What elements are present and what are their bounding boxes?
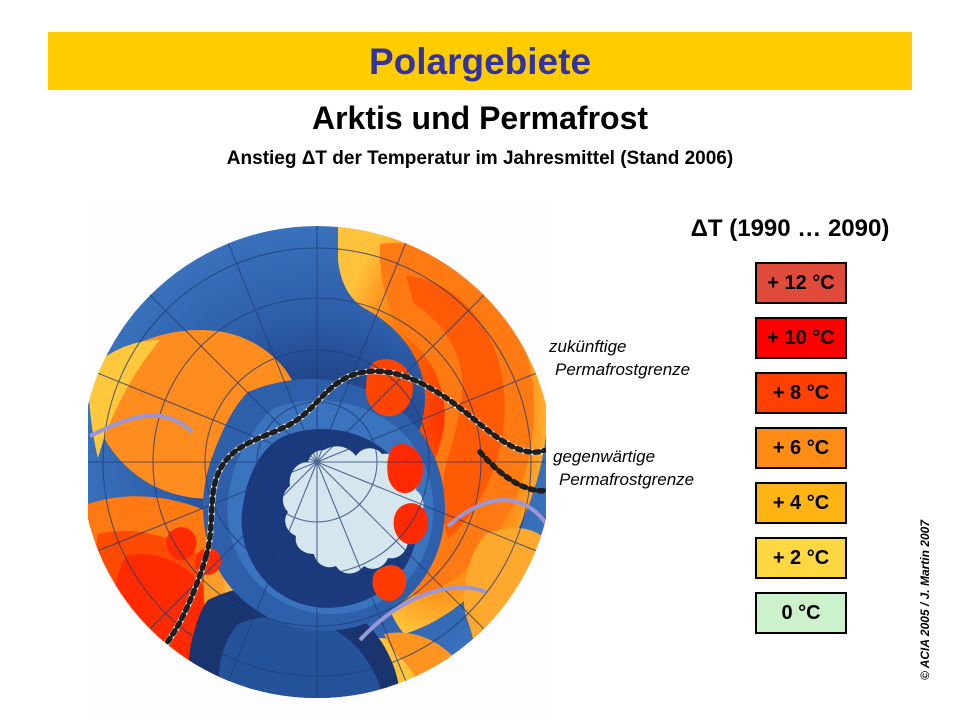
annotation-future-permafrost-limit: zukünftige Permafrostgrenze (549, 336, 690, 382)
legend-swatch-label: 0 °C (781, 602, 820, 625)
legend-swatch-label: + 6 °C (773, 437, 829, 460)
legend-swatch-10: + 10 °C (755, 317, 847, 359)
page-title: Polargebiete (369, 43, 591, 80)
legend-swatch-label: + 4 °C (773, 492, 829, 515)
arctic-permafrost-map (88, 204, 546, 720)
legend-swatch-8: + 8 °C (755, 372, 847, 414)
legend-swatch-4: + 4 °C (755, 482, 847, 524)
temperature-legend: + 12 °C+ 10 °C+ 8 °C+ 6 °C+ 4 °C+ 2 °C0 … (755, 262, 849, 647)
annotation-present-line1: gegenwärtige (553, 447, 655, 466)
legend-swatch-label: + 8 °C (773, 382, 829, 405)
map-graphic (88, 204, 546, 720)
legend-title: ΔT (1990 … 2090) (662, 215, 918, 243)
heading-main: Arktis und Permafrost (0, 100, 960, 137)
heading-sub: Anstieg ΔT der Temperatur im Jahresmitte… (0, 148, 960, 170)
legend-swatch-12: + 12 °C (755, 262, 847, 304)
legend-swatch-2: + 2 °C (755, 537, 847, 579)
legend-swatch-0: 0 °C (755, 592, 847, 634)
legend-swatch-label: + 10 °C (767, 327, 834, 350)
annotation-future-line2: Permafrostgrenze (549, 359, 690, 382)
annotation-present-line2: Permafrostgrenze (553, 469, 694, 492)
annotation-future-line1: zukünftige (549, 337, 627, 356)
copyright-credit: © ACIA 2005 / J. Martin 2007 (918, 520, 932, 680)
annotation-present-permafrost-limit: gegenwärtige Permafrostgrenze (553, 446, 694, 492)
legend-swatch-label: + 2 °C (773, 547, 829, 570)
legend-swatch-label: + 12 °C (767, 272, 834, 295)
title-banner: Polargebiete (48, 32, 912, 90)
legend-swatch-6: + 6 °C (755, 427, 847, 469)
